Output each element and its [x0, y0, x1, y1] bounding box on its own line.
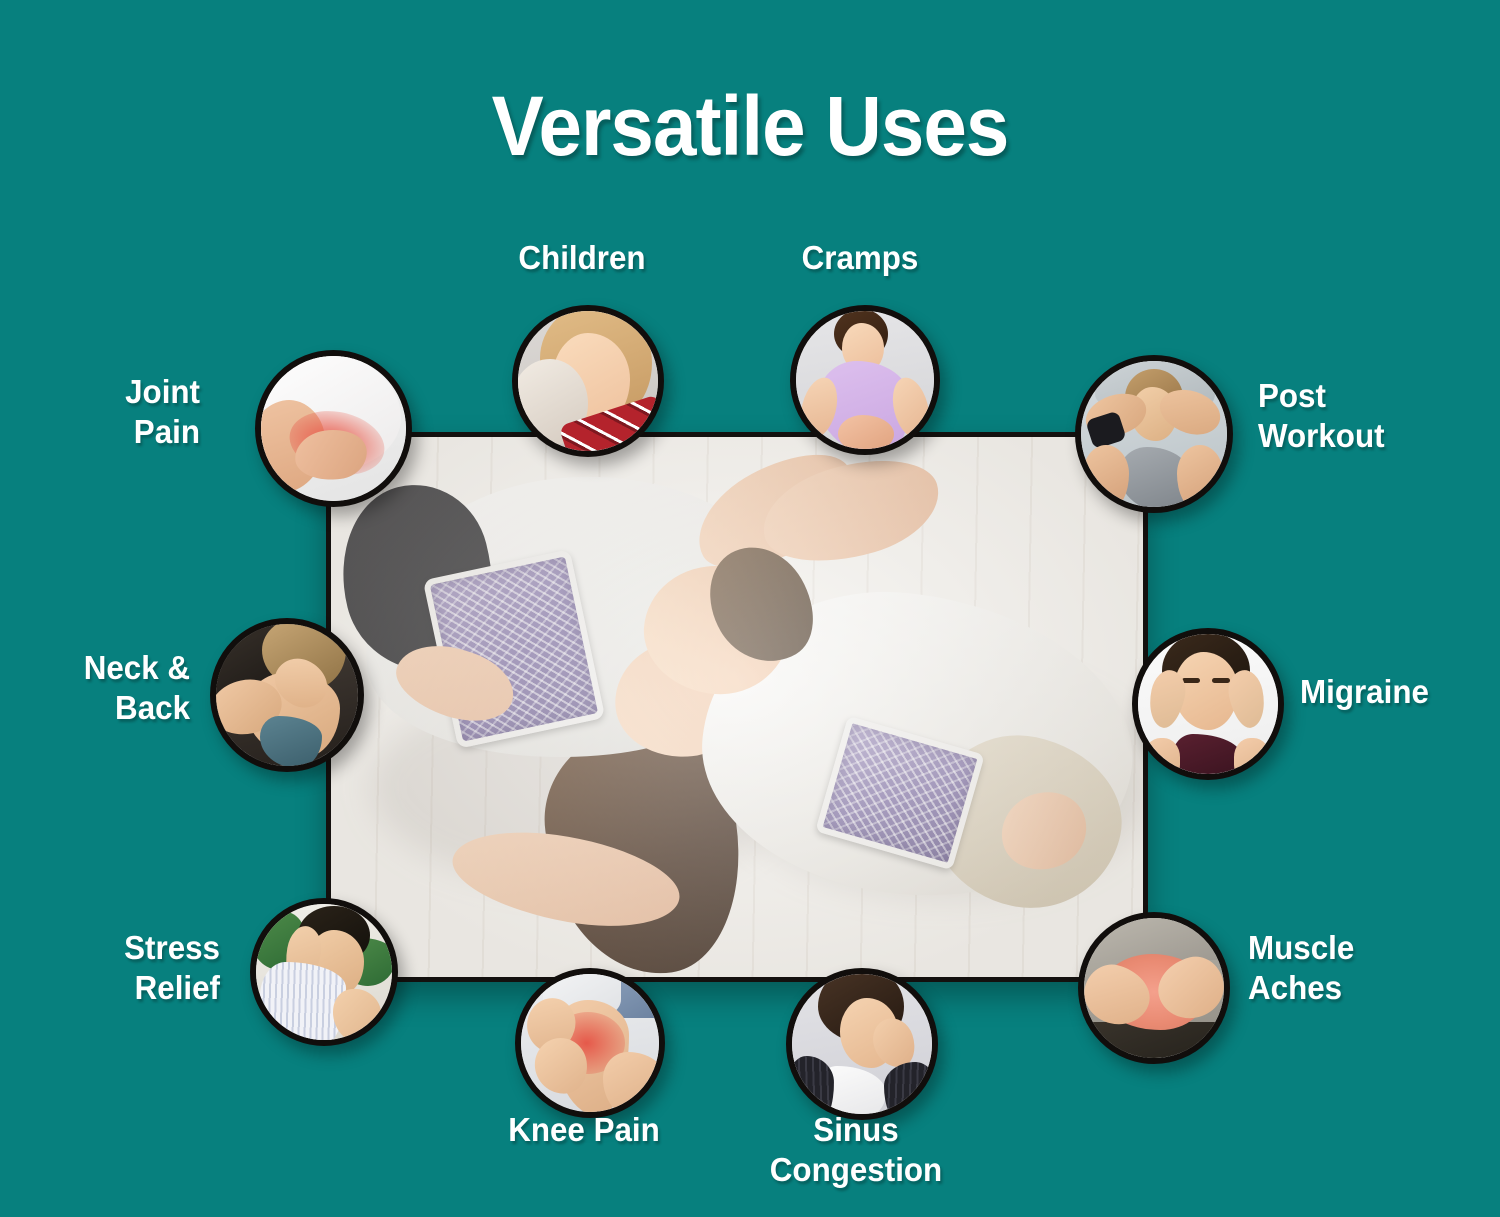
use-label-sinus-congestion: Sinus Congestion [733, 1110, 980, 1191]
use-bubble-muscle-aches[interactable] [1078, 912, 1230, 1064]
use-label-muscle-aches: Muscle Aches [1248, 928, 1500, 1009]
use-bubble-children[interactable] [512, 305, 664, 457]
use-label-stress-relief: Stress Relief [0, 928, 220, 1009]
photo-lighting-overlay [331, 437, 1143, 977]
use-bubble-stress-relief[interactable] [250, 898, 398, 1046]
use-bubble-migraine[interactable] [1132, 628, 1284, 780]
use-bubble-cramps[interactable] [790, 305, 940, 455]
use-label-children: Children [459, 238, 706, 278]
use-bubble-knee-pain[interactable] [515, 968, 665, 1118]
towel-top [1080, 912, 1230, 960]
use-label-joint-pain: Joint Pain [0, 372, 200, 453]
use-label-knee-pain: Knee Pain [461, 1110, 708, 1150]
hands-on-abdomen [838, 415, 894, 453]
use-label-migraine: Migraine [1300, 672, 1500, 712]
center-product-photo [326, 432, 1148, 982]
right-eyebrow [1212, 678, 1230, 683]
left-eyebrow [1182, 678, 1200, 683]
use-label-cramps: Cramps [737, 238, 984, 278]
use-bubble-neck-and-back[interactable] [210, 618, 364, 772]
shoulder-left [1144, 738, 1180, 780]
use-label-neck-and-back: Neck & Back [0, 648, 190, 729]
infographic-canvas: Versatile Uses Joint Pain [0, 0, 1500, 1217]
use-label-post-workout: Post Workout [1258, 376, 1500, 457]
use-bubble-sinus-congestion[interactable] [786, 968, 938, 1120]
use-bubble-joint-pain[interactable] [255, 350, 412, 507]
page-title: Versatile Uses [53, 78, 1448, 175]
use-bubble-post-workout[interactable] [1075, 355, 1233, 513]
